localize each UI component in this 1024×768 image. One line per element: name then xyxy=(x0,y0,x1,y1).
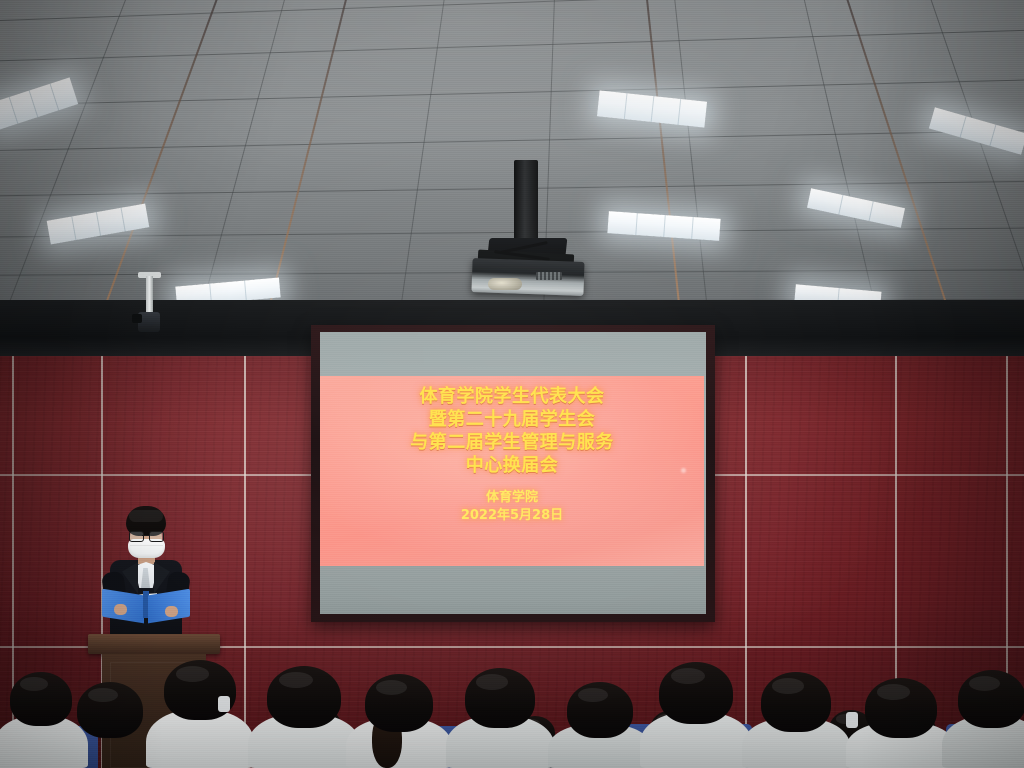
ceiling-light-5 xyxy=(607,211,720,241)
slide-org: 体育学院 xyxy=(486,489,538,507)
audience-member xyxy=(942,670,1024,768)
slide-title-line-1: 体育学院学生代表大会 xyxy=(420,385,605,408)
audience-member xyxy=(346,674,452,768)
screen-speck xyxy=(681,468,686,473)
ceiling-light-4 xyxy=(597,90,707,127)
glasses-icon xyxy=(129,531,164,540)
projector-mount-pole xyxy=(514,160,538,246)
ceiling-camera xyxy=(132,276,166,338)
audience-member xyxy=(146,660,254,768)
slide-title-line-2: 暨第二十九届学生会 xyxy=(429,408,596,431)
audience-seating xyxy=(0,600,1024,768)
screen-surface: 体育学院学生代表大会 暨第二十九届学生会 与第二届学生管理与服务 中心换届会 体… xyxy=(320,332,706,614)
camera-mount-pole xyxy=(146,276,153,316)
projection-screen: 体育学院学生代表大会 暨第二十九届学生会 与第二届学生管理与服务 中心换届会 体… xyxy=(311,325,715,622)
ceiling-light-7 xyxy=(929,107,1024,155)
slide-text-block: 体育学院学生代表大会 暨第二十九届学生会 与第二届学生管理与服务 中心换届会 体… xyxy=(320,376,704,566)
conference-hall-photo: 体育学院学生代表大会 暨第二十九届学生会 与第二届学生管理与服务 中心换届会 体… xyxy=(0,0,1024,768)
audience-member xyxy=(846,678,956,768)
ceiling-light-1 xyxy=(0,77,78,130)
audience-member xyxy=(742,672,850,768)
audience-member xyxy=(548,682,652,768)
projected-slide: 体育学院学生代表大会 暨第二十九届学生会 与第二届学生管理与服务 中心换届会 体… xyxy=(320,376,704,566)
audience-member xyxy=(248,666,360,768)
projector-vent xyxy=(536,272,562,280)
projector-lens xyxy=(488,278,522,290)
camera-lens xyxy=(132,314,142,323)
ceiling-projector xyxy=(470,160,590,305)
slide-date: 2022年5月28日 xyxy=(461,507,563,525)
slide-title-line-4: 中心换届会 xyxy=(466,454,559,477)
slide-title-line-3: 与第二届学生管理与服务 xyxy=(410,431,614,454)
audience-member xyxy=(446,668,554,768)
ceiling-light-2 xyxy=(47,203,150,244)
audience-member xyxy=(640,662,752,768)
projector-body xyxy=(471,258,584,296)
